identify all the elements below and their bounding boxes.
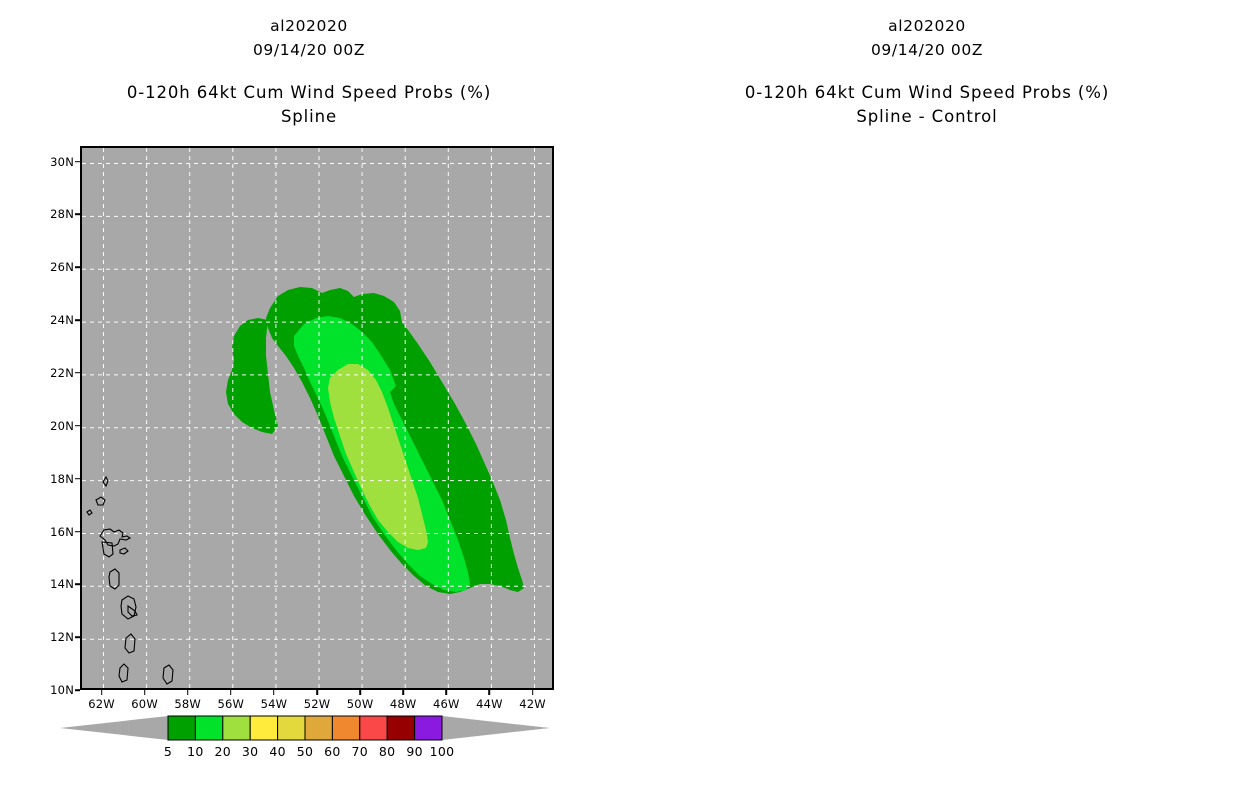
- map-plot-spline[interactable]: 10N 12N 14N 16N 18N 20N 22N 24N 26N 28N …: [80, 146, 554, 690]
- cbar-tick-40: 40: [269, 744, 286, 759]
- xtick-label-44W: 44W: [476, 697, 503, 711]
- ytick-label-28N: 28N: [50, 207, 74, 221]
- cbar-tick-80: 80: [379, 744, 396, 759]
- xtick-label-42W: 42W: [519, 697, 546, 711]
- cbar-tick-50: 50: [297, 744, 314, 759]
- xtick-mark-48W: [402, 690, 404, 695]
- xtick-mark-56W: [230, 690, 232, 695]
- cbar-tick-100: 100: [430, 744, 455, 759]
- xtick-mark-42W: [532, 690, 534, 695]
- ytick-mark-16N: [75, 531, 80, 533]
- ytick-mark-12N: [75, 636, 80, 638]
- ytick-mark-10N: [75, 689, 80, 691]
- xtick-mark-50W: [359, 690, 361, 695]
- storm-id-label: al202020: [0, 14, 618, 38]
- product-title: 0-120h 64kt Cum Wind Speed Probs (%): [0, 81, 618, 105]
- product-title: 0-120h 64kt Cum Wind Speed Probs (%): [618, 81, 1236, 105]
- panel-spline: al202020 09/14/20 00Z 0-120h 64kt Cum Wi…: [0, 0, 618, 800]
- xtick-mark-44W: [489, 690, 491, 695]
- ytick-label-18N: 18N: [50, 472, 74, 486]
- xtick-mark-54W: [273, 690, 275, 695]
- ytick-label-30N: 30N: [50, 155, 74, 169]
- ytick-label-26N: 26N: [50, 260, 74, 274]
- cbar-tick-10: 10: [187, 744, 204, 759]
- map-canvas-spline: [82, 148, 554, 690]
- gridlines: [82, 148, 554, 690]
- colorbar-under-arrow: [60, 716, 168, 740]
- colorbar-swatches: [50, 714, 560, 744]
- colorbar-over-arrow: [442, 716, 550, 740]
- ytick-label-12N: 12N: [50, 630, 74, 644]
- ytick-mark-30N: [75, 161, 80, 163]
- colorbar-probability[interactable]: 5 10 20 30 40 50 60 70 80 90 100: [50, 714, 560, 774]
- ytick-label-10N: 10N: [50, 683, 74, 697]
- datetime-label: 09/14/20 00Z: [618, 38, 1236, 62]
- cbar-tick-70: 70: [352, 744, 369, 759]
- cbar-tick-60: 60: [324, 744, 341, 759]
- panel-left-titles: al202020 09/14/20 00Z 0-120h 64kt Cum Wi…: [0, 0, 618, 129]
- colorbar-band-group: [168, 716, 442, 740]
- datetime-label: 09/14/20 00Z: [0, 38, 618, 62]
- cbar-tick-5: 5: [164, 744, 172, 759]
- xtick-label-54W: 54W: [261, 697, 288, 711]
- ytick-mark-28N: [75, 214, 80, 216]
- contour-band-5-west-lobe: [226, 318, 278, 434]
- panel-spline-minus-control: al202020 09/14/20 00Z 0-120h 64kt Cum Wi…: [618, 0, 1236, 800]
- xtick-mark-46W: [446, 690, 448, 695]
- xtick-label-58W: 58W: [174, 697, 201, 711]
- cbar-tick-90: 90: [406, 744, 423, 759]
- xtick-label-60W: 60W: [131, 697, 158, 711]
- ytick-mark-14N: [75, 584, 80, 586]
- ytick-label-16N: 16N: [50, 525, 74, 539]
- panel-subtitle: Spline: [0, 105, 618, 129]
- ytick-label-22N: 22N: [50, 366, 74, 380]
- xtick-label-62W: 62W: [88, 697, 115, 711]
- xtick-label-48W: 48W: [390, 697, 417, 711]
- ytick-label-20N: 20N: [50, 419, 74, 433]
- xtick-label-56W: 56W: [217, 697, 244, 711]
- xtick-label-46W: 46W: [433, 697, 460, 711]
- ytick-mark-24N: [75, 319, 80, 321]
- xtick-mark-62W: [101, 690, 103, 695]
- xtick-label-50W: 50W: [347, 697, 374, 711]
- map-frame: [80, 146, 554, 690]
- xtick-mark-58W: [187, 690, 189, 695]
- ytick-mark-26N: [75, 266, 80, 268]
- xtick-mark-60W: [144, 690, 146, 695]
- xtick-mark-52W: [316, 690, 318, 695]
- ytick-label-24N: 24N: [50, 313, 74, 327]
- panel-right-titles: al202020 09/14/20 00Z 0-120h 64kt Cum Wi…: [618, 0, 1236, 129]
- ytick-mark-22N: [75, 372, 80, 374]
- coastlines: [82, 477, 173, 690]
- ytick-label-14N: 14N: [50, 577, 74, 591]
- ytick-mark-20N: [75, 425, 80, 427]
- cbar-tick-20: 20: [215, 744, 232, 759]
- panel-subtitle: Spline - Control: [618, 105, 1236, 129]
- ytick-mark-18N: [75, 478, 80, 480]
- xtick-label-52W: 52W: [304, 697, 331, 711]
- storm-id-label: al202020: [618, 14, 1236, 38]
- cbar-tick-30: 30: [242, 744, 259, 759]
